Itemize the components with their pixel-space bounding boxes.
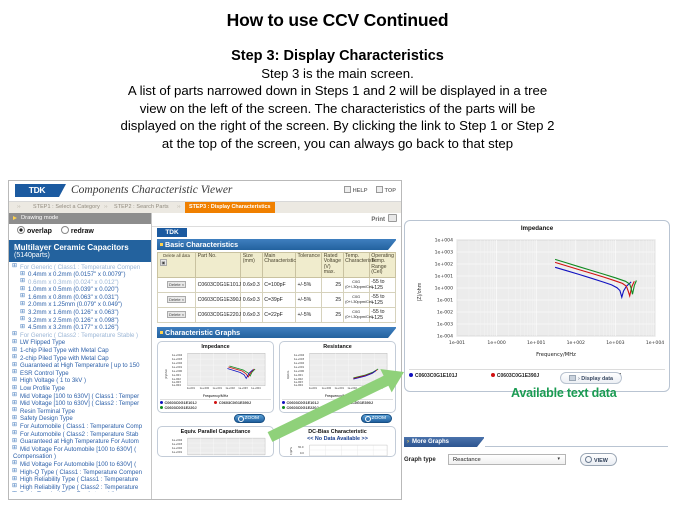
column-header: Rated Voltage (V) max. [322, 253, 343, 278]
tree-item[interactable]: Mid Voltage [100 to 630V] ( Class1 : Tem… [11, 393, 151, 401]
svg-text:1e-001: 1e-001 [294, 373, 303, 377]
tree-item[interactable]: High Reliability Type ( Class2 : Tempera… [11, 484, 151, 492]
cell-temp-range: -55 to +125 [369, 277, 395, 292]
cell-tolerance: +/-5% [296, 292, 322, 307]
svg-text:1e-001: 1e-001 [309, 386, 318, 389]
impedance-chart-panel: Impedance 1e+0041e+0031e+0021e+0011e+000… [404, 220, 670, 392]
legend-item: C0603C0G1E220J [160, 406, 214, 411]
mini-chart-svg: 30.00.0 C/pF% [282, 443, 393, 457]
cell-main: C=39pF [262, 292, 295, 307]
column-header: Temp. Characteristic [343, 253, 369, 278]
column-header: Tolerance [296, 253, 322, 278]
tree-item[interactable]: High-Q Type ( Class1 : Temperature Compe… [11, 469, 151, 477]
impedance-chart-xlabel: Frequency/MHz [536, 352, 576, 358]
graph-card-title: Impedance [160, 344, 271, 350]
legend-label: C0603C0G1E390J [341, 401, 373, 405]
svg-text:1e+000: 1e+000 [200, 386, 210, 389]
tree-item[interactable]: 1.0mm x 0.5mm (0.039" x 0.020") [11, 286, 151, 294]
slide-body-line: view on the left of the screen. The char… [14, 100, 661, 117]
graph-card-title: Equiv. Parallel Capacitance [160, 429, 271, 435]
tree-item[interactable]: For Generic ( Class2 : Temperature Stabl… [11, 332, 151, 340]
zoom-button-resistance[interactable]: ZOOM [361, 414, 392, 423]
x-tick-label: 1e+003 [606, 340, 624, 346]
slide-body-line: Step 3 is the main screen. [14, 65, 661, 82]
mini-chart-svg: 1e+0041e+003 1e+0021e+001 1e+0001e-001 1… [282, 351, 393, 391]
legend-color-swatch [336, 401, 339, 404]
svg-text:1e+004: 1e+004 [172, 353, 183, 357]
tree-item[interactable]: For Generic ( Class1 : Temperature Compe… [11, 264, 151, 272]
delete-row-button[interactable]: Delete × [167, 296, 186, 303]
svg-text:1e+001: 1e+001 [172, 450, 183, 454]
print-row: Print [152, 213, 401, 227]
svg-text:1e+003: 1e+003 [360, 386, 370, 389]
radio-on-icon [17, 226, 25, 234]
tree-item[interactable]: Low Profile Type [11, 385, 151, 393]
step-2-link[interactable]: STEP2 : Search Parts [114, 204, 169, 210]
cell-tolerance: +/-5% [296, 277, 322, 292]
legend-label: C0603C0G1E390J [497, 373, 539, 379]
slide-body: Step 3 is the main screen. A list of par… [0, 65, 675, 152]
drawing-mode-radio-group: overlap redraw [9, 224, 151, 240]
svg-text:1e+004: 1e+004 [172, 438, 183, 442]
tree-item[interactable]: Safety Design Type [11, 415, 151, 423]
step-sep-icon: ›› [177, 204, 181, 210]
legend-label: C0603C0G1E390J [219, 401, 251, 405]
svg-text:1e+001: 1e+001 [172, 365, 183, 369]
available-text-data-annotation: Available text data [511, 386, 617, 400]
svg-text:1e+001: 1e+001 [335, 386, 345, 389]
slide-body-line: A list of parts narrowed down in Steps 1… [14, 82, 661, 99]
legend-color-swatch [282, 401, 285, 404]
cell-main: C=22pF [262, 307, 295, 322]
step-sep-icon: ›› [17, 204, 21, 210]
cell-temp-char: C0G (0+/-30ppm/Cel) [343, 277, 369, 292]
impedance-chart-title: Impedance [405, 221, 669, 232]
x-tick-label: 1e+000 [487, 340, 505, 346]
cell-part-no: C0603C0G1E101J [196, 277, 241, 292]
tree-item[interactable]: 4.5mm x 3.2mm (0.177" x 0.126") [11, 324, 151, 332]
legend-color-swatch [409, 373, 413, 377]
basic-characteristics-table: Delete all data▣Part No.Size (mm)Main Ch… [157, 252, 396, 323]
legend-item: C0603C0G1E390J [336, 401, 390, 406]
cell-size: 0.6x0.3 [241, 292, 262, 307]
column-header: Operating Temp. Range (Cel) [369, 253, 395, 278]
svg-text:1e-001: 1e-001 [187, 386, 196, 389]
more-graphs-section: More Graphs Graph type Reactance VIEW [404, 437, 668, 466]
legend-label: C0603C0G1E101J [415, 373, 457, 379]
svg-text:1e+004: 1e+004 [251, 386, 261, 389]
svg-text:30.0: 30.0 [298, 445, 304, 449]
table-row: Delete ×C0603C0G1E101J0.6x0.3C=100pF+/-5… [158, 277, 396, 292]
top-box-icon [376, 186, 383, 193]
x-tick-label: 1e+001 [527, 340, 545, 346]
svg-text:1e+002: 1e+002 [172, 361, 183, 365]
graph-card-equiv-parallel-capacitance[interactable]: Equiv. Parallel Capacitance 1e+0041e+003… [157, 426, 274, 457]
y-tick-label: 1e-004 [437, 334, 453, 340]
top-link[interactable]: TOP [376, 188, 396, 194]
legend-label: C0603C0G1E220J [287, 406, 319, 410]
svg-text:1e-004: 1e-004 [172, 382, 181, 386]
y-tick-label: 1e+003 [435, 250, 453, 256]
slide-subtitle: Step 3: Display Characteristics [0, 48, 675, 64]
svg-text:1e+001: 1e+001 [213, 386, 223, 389]
graph-card-title: Resistance [282, 344, 393, 350]
mini-chart-xlabel: Frequency/MHz [282, 394, 393, 398]
y-tick-label: 1e+004 [435, 238, 453, 244]
slide-body-line: at the top of the screen, you can always… [14, 135, 661, 152]
svg-text:|Z|/ohm: |Z|/ohm [164, 368, 168, 379]
mini-chart-impedance: 1e+0041e+003 1e+0021e+001 1e+0001e-001 1… [160, 351, 271, 398]
tree-item[interactable]: 2-chip Piled Type with Metal Cap [11, 355, 151, 363]
tdk-logo-content: TDK [157, 228, 187, 237]
legend-color-swatch [160, 401, 163, 404]
cell-temp-char: C0G (0+/-30ppm/Cel) [343, 307, 369, 322]
step-1-link[interactable]: STEP1 : Select a Category [33, 204, 100, 210]
graph-card-row-1: Impedance 1e+0041e+003 1e+0021e+001 1e+0… [157, 341, 396, 413]
app-titlebar: TDK Components Characteristic Viewer HEL… [9, 181, 401, 202]
impedance-chart-svg: 1e+0041e+0031e+0021e+0011e+0001e-0011e-0… [405, 232, 669, 360]
legend-color-swatch [214, 401, 217, 404]
y-tick-label: 1e-002 [437, 310, 453, 316]
graph-card-impedance[interactable]: Impedance 1e+0041e+003 1e+0021e+001 1e+0… [157, 341, 274, 413]
cell-part-no: C0603C0G1E390J [196, 292, 241, 307]
graph-card-dc-bias[interactable]: DC-Bias Characteristic << No Data Availa… [279, 426, 396, 457]
y-tick-label: 1e-003 [437, 322, 453, 328]
svg-text:1e+000: 1e+000 [172, 369, 183, 373]
zoom-button-impedance[interactable]: ZOOM [234, 414, 265, 423]
cell-temp-range: -55 to +125 [369, 307, 395, 322]
tree-item[interactable]: 2.0mm x 1.25mm (0.079" x 0.049") [11, 301, 151, 309]
column-header: Part No. [196, 253, 241, 278]
radio-redraw[interactable]: redraw [61, 228, 94, 235]
svg-text:1e+001: 1e+001 [294, 365, 305, 369]
svg-text:1e+003: 1e+003 [172, 442, 183, 446]
x-tick-label: 1e-001 [449, 340, 465, 346]
svg-text:0.0: 0.0 [300, 451, 304, 455]
cell-part-no: C0603C0G1E220J [196, 307, 241, 322]
printer-icon [388, 214, 397, 222]
print-button[interactable]: Print [371, 214, 397, 223]
tree-item[interactable]: LW Flipped Type [11, 339, 151, 347]
svg-text:C/pF%: C/pF% [289, 446, 293, 455]
table-header-row: Delete all data▣Part No.Size (mm)Main Ch… [158, 253, 396, 278]
legend-color-swatch [491, 373, 495, 377]
legend-item: C0603C0G1E390J [214, 401, 268, 406]
svg-text:1e+004: 1e+004 [373, 386, 383, 389]
left-pane: Drawing mode overlap redraw Multilayer C… [9, 213, 152, 499]
help-box-icon [344, 186, 351, 193]
cell-rated-voltage: 25 [322, 277, 343, 292]
y-tick-label: 1e+001 [435, 274, 453, 280]
table-icon [569, 375, 576, 381]
mini-chart-svg: 1e+0041e+003 1e+0021e+001 [160, 436, 271, 456]
step-sep-icon: ›› [104, 204, 108, 210]
step-3-tab-active[interactable]: STEP3 : Display Characteristics [185, 202, 275, 213]
category-tree[interactable]: For Generic ( Class1 : Temperature Compe… [9, 262, 151, 492]
mini-chart-svg: 1e+0041e+003 1e+0021e+001 1e+0001e-001 1… [160, 351, 271, 391]
tdk-logo: TDK [15, 184, 59, 197]
svg-text:1e+003: 1e+003 [172, 357, 183, 361]
more-graphs-title: More Graphs [404, 437, 484, 447]
characteristic-graphs-section: Characteristic Graphs Impedance 1e+0041e… [157, 327, 396, 457]
table-row: Delete ×C0603C0G1E220J0.6x0.3C=22pF+/-5%… [158, 307, 396, 322]
app-body: Drawing mode overlap redraw Multilayer C… [9, 213, 401, 499]
tree-item[interactable]: High Reliability Type ( Class1 : Tempera… [11, 476, 151, 484]
column-header: Main Characteristic [262, 253, 295, 278]
slide-body-line: displayed on the right of the screen. By… [14, 117, 661, 134]
svg-text:1e+002: 1e+002 [172, 446, 183, 450]
tree-item[interactable]: For Automobile ( Class1 : Temperature Co… [11, 423, 151, 431]
graph-type-label: Graph type [404, 457, 448, 463]
more-graphs-controls: Graph type Reactance VIEW [404, 453, 668, 466]
delete-all-button[interactable]: ▣ [160, 259, 168, 266]
tree-item[interactable]: Mid Voltage For Automobile [100 to 630V]… [11, 446, 151, 454]
x-tick-label: 1e+004 [646, 340, 664, 346]
y-tick-label: 1e+000 [435, 286, 453, 292]
zoom-row-1: ZOOM ZOOM [157, 413, 396, 423]
tree-item[interactable]: 1-chip Piled Type with Metal Cap [11, 347, 151, 355]
y-tick-label: 1e+002 [435, 262, 453, 268]
y-tick-label: 1e-001 [437, 298, 453, 304]
legend-label: C0603C0G1E101J [287, 401, 319, 405]
tree-item[interactable]: Resin Terminal Type [11, 408, 151, 416]
impedance-chart-legend: C0603C0G1E101JC0603C0G1E390JC0603C0G1E22… [409, 369, 665, 387]
magnifier-icon [585, 456, 592, 463]
table-row: Delete ×C0603C0G1E390J0.6x0.3C=39pF+/-5%… [158, 292, 396, 307]
tree-item[interactable]: Guaranteed at High Temperature For Autom [11, 438, 151, 446]
cell-size: 0.6x0.3 [241, 277, 262, 292]
tree-item[interactable]: 3.2mm x 1.6mm (0.126" x 0.063") [11, 309, 151, 317]
radio-off-icon [61, 226, 69, 234]
svg-text:1e+003: 1e+003 [238, 386, 248, 389]
tree-item[interactable]: Compensation ) [11, 453, 151, 461]
svg-text:R/ohm: R/ohm [286, 370, 290, 379]
column-header: Size (mm) [241, 253, 262, 278]
x-tick-label: 1e+002 [567, 340, 585, 346]
svg-text:1e+000: 1e+000 [294, 369, 305, 373]
svg-text:1e+004: 1e+004 [294, 353, 305, 357]
cell-rated-voltage: 25 [322, 292, 343, 307]
table-body: Delete ×C0603C0G1E101J0.6x0.3C=100pF+/-5… [158, 277, 396, 322]
view-button[interactable]: VIEW [580, 453, 617, 466]
cell-size: 0.6x0.3 [241, 307, 262, 322]
category-part-count: (5140parts) [14, 252, 146, 259]
graph-card-resistance[interactable]: Resistance 1e+0041e+003 1e+0021e+001 1e+… [279, 341, 396, 413]
legend-label: C0603C0G1E101J [165, 401, 197, 405]
svg-text:1e+002: 1e+002 [225, 386, 235, 389]
legend-color-swatch [282, 406, 285, 409]
svg-text:1e+002: 1e+002 [294, 361, 305, 365]
tree-item[interactable]: 3.2mm x 2.5mm (0.126" x 0.098") [11, 317, 151, 325]
tree-item[interactable]: 1.6mm x 0.8mm (0.063" x 0.031") [11, 294, 151, 302]
graph-card-row-2: Equiv. Parallel Capacitance 1e+0041e+003… [157, 426, 396, 457]
category-header: Multilayer Ceramic Capacitors (5140parts… [9, 240, 151, 262]
drawing-mode-header: Drawing mode [9, 213, 151, 224]
basic-characteristics-section: Basic Characteristics Delete all data▣Pa… [157, 239, 396, 323]
graph-type-select[interactable]: Reactance [448, 454, 566, 465]
app-top-links: HELP TOP [337, 186, 396, 194]
radio-overlap[interactable]: overlap [17, 228, 52, 235]
tree-item[interactable]: 0.4mm x 0.2mm (0.0157" x 0.0079") [11, 271, 151, 279]
graph-card-no-data: << No Data Available >> [282, 436, 393, 442]
svg-text:1e-001: 1e-001 [172, 373, 181, 377]
legend-item: C0603C0G1E101J [409, 373, 491, 379]
delete-row-button[interactable]: Delete × [167, 281, 186, 288]
legend-item: C0603C0G1E220J [282, 406, 336, 411]
tree-item[interactable]: 0.6mm x 0.3mm (0.024" x 0.012") [11, 279, 151, 287]
impedance-chart-ylabel: |Z|/ohm [417, 282, 423, 301]
tree-item[interactable]: ESR Control Type [11, 370, 151, 378]
legend-label: C0603C0G1E220J [165, 406, 197, 410]
tree-item[interactable]: High Voltage ( 1 to 3kV ) [11, 377, 151, 385]
tree-item[interactable]: Mid Voltage For Automobile [100 to 630V]… [11, 461, 151, 469]
mini-chart-legend: C0603C0G1E101JC0603C0G1E390JC0603C0G1E22… [160, 399, 271, 411]
cell-temp-char: C0G (0+/-30ppm/Cel) [343, 292, 369, 307]
svg-text:1e+002: 1e+002 [347, 386, 357, 389]
delete-all-header: Delete all data▣ [158, 253, 196, 278]
cell-temp-range: -55 to +125 [369, 292, 395, 307]
cell-rated-voltage: 25 [322, 307, 343, 322]
basic-characteristics-title: Basic Characteristics [157, 239, 396, 250]
page-title: How to use CCV Continued [0, 10, 675, 31]
help-link[interactable]: HELP [344, 188, 367, 194]
delete-row-button[interactable]: Delete × [167, 311, 186, 318]
mini-chart-legend: C0603C0G1E101JC0603C0G1E390JC0603C0G1E22… [282, 399, 393, 411]
tree-item[interactable]: Mid Voltage [100 to 630V] ( Class2 : Tem… [11, 400, 151, 408]
legend-color-swatch [160, 406, 163, 409]
mini-chart-resistance: 1e+0041e+003 1e+0021e+001 1e+0001e-001 1… [282, 351, 393, 398]
cell-tolerance: +/-5% [296, 307, 322, 322]
category-title: Multilayer Ceramic Capacitors [14, 243, 146, 252]
graph-card-title: DC-Bias Characteristic [282, 429, 393, 435]
display-data-button[interactable]: › Display data [560, 372, 622, 384]
svg-text:1e+000: 1e+000 [322, 386, 332, 389]
cell-main: C=100pF [262, 277, 295, 292]
tree-item[interactable]: Guaranteed at High Temperature [ up to 1… [11, 362, 151, 370]
tree-item[interactable]: For Automobile ( Class2 : Temperature St… [11, 431, 151, 439]
right-pane: Print TDK Basic Characteristics Delete a… [152, 213, 401, 499]
ccv-application-window: TDK Components Characteristic Viewer HEL… [8, 180, 402, 500]
characteristic-graphs-title: Characteristic Graphs [157, 327, 396, 338]
mini-chart-xlabel: Frequency/MHz [160, 394, 271, 398]
svg-text:1e+003: 1e+003 [294, 357, 305, 361]
app-name: Components Characteristic Viewer [71, 184, 232, 196]
svg-text:1e-004: 1e-004 [294, 382, 303, 386]
slide-header: How to use CCV Continued Step 3: Display… [0, 0, 675, 152]
